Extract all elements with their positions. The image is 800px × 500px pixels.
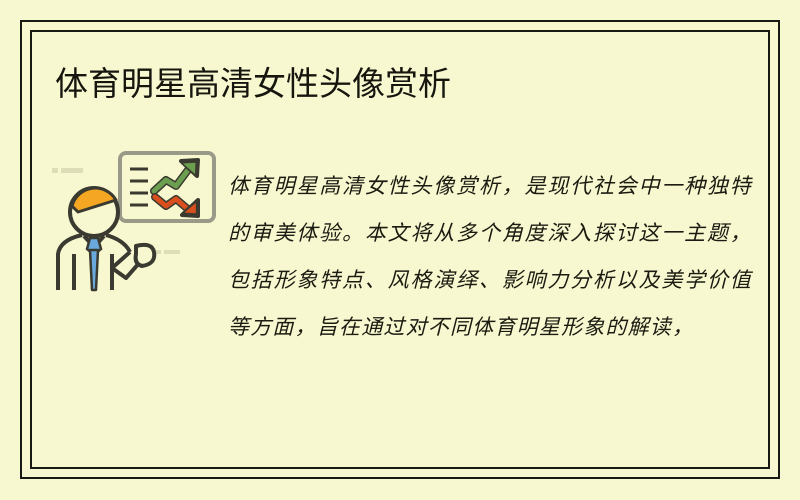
decor-dash-marks [52, 168, 83, 173]
presenter-hand [136, 245, 155, 266]
presenter-right-shoulder [106, 235, 130, 252]
presenter-left-body [58, 235, 82, 290]
page-title: 体育明星高清女性头像赏析 [55, 62, 451, 106]
presenter-tie [90, 250, 98, 290]
document-page: 体育明星高清女性头像赏析 [0, 0, 800, 500]
article-body: 体育明星高清女性头像赏析，是现代社会中一种独特的审美体验。本文将从多个角度深入探… [228, 163, 752, 351]
illustration-businessman-chart [48, 150, 218, 305]
presentation-board [120, 153, 214, 221]
decor-dash-marks-right [156, 250, 180, 254]
